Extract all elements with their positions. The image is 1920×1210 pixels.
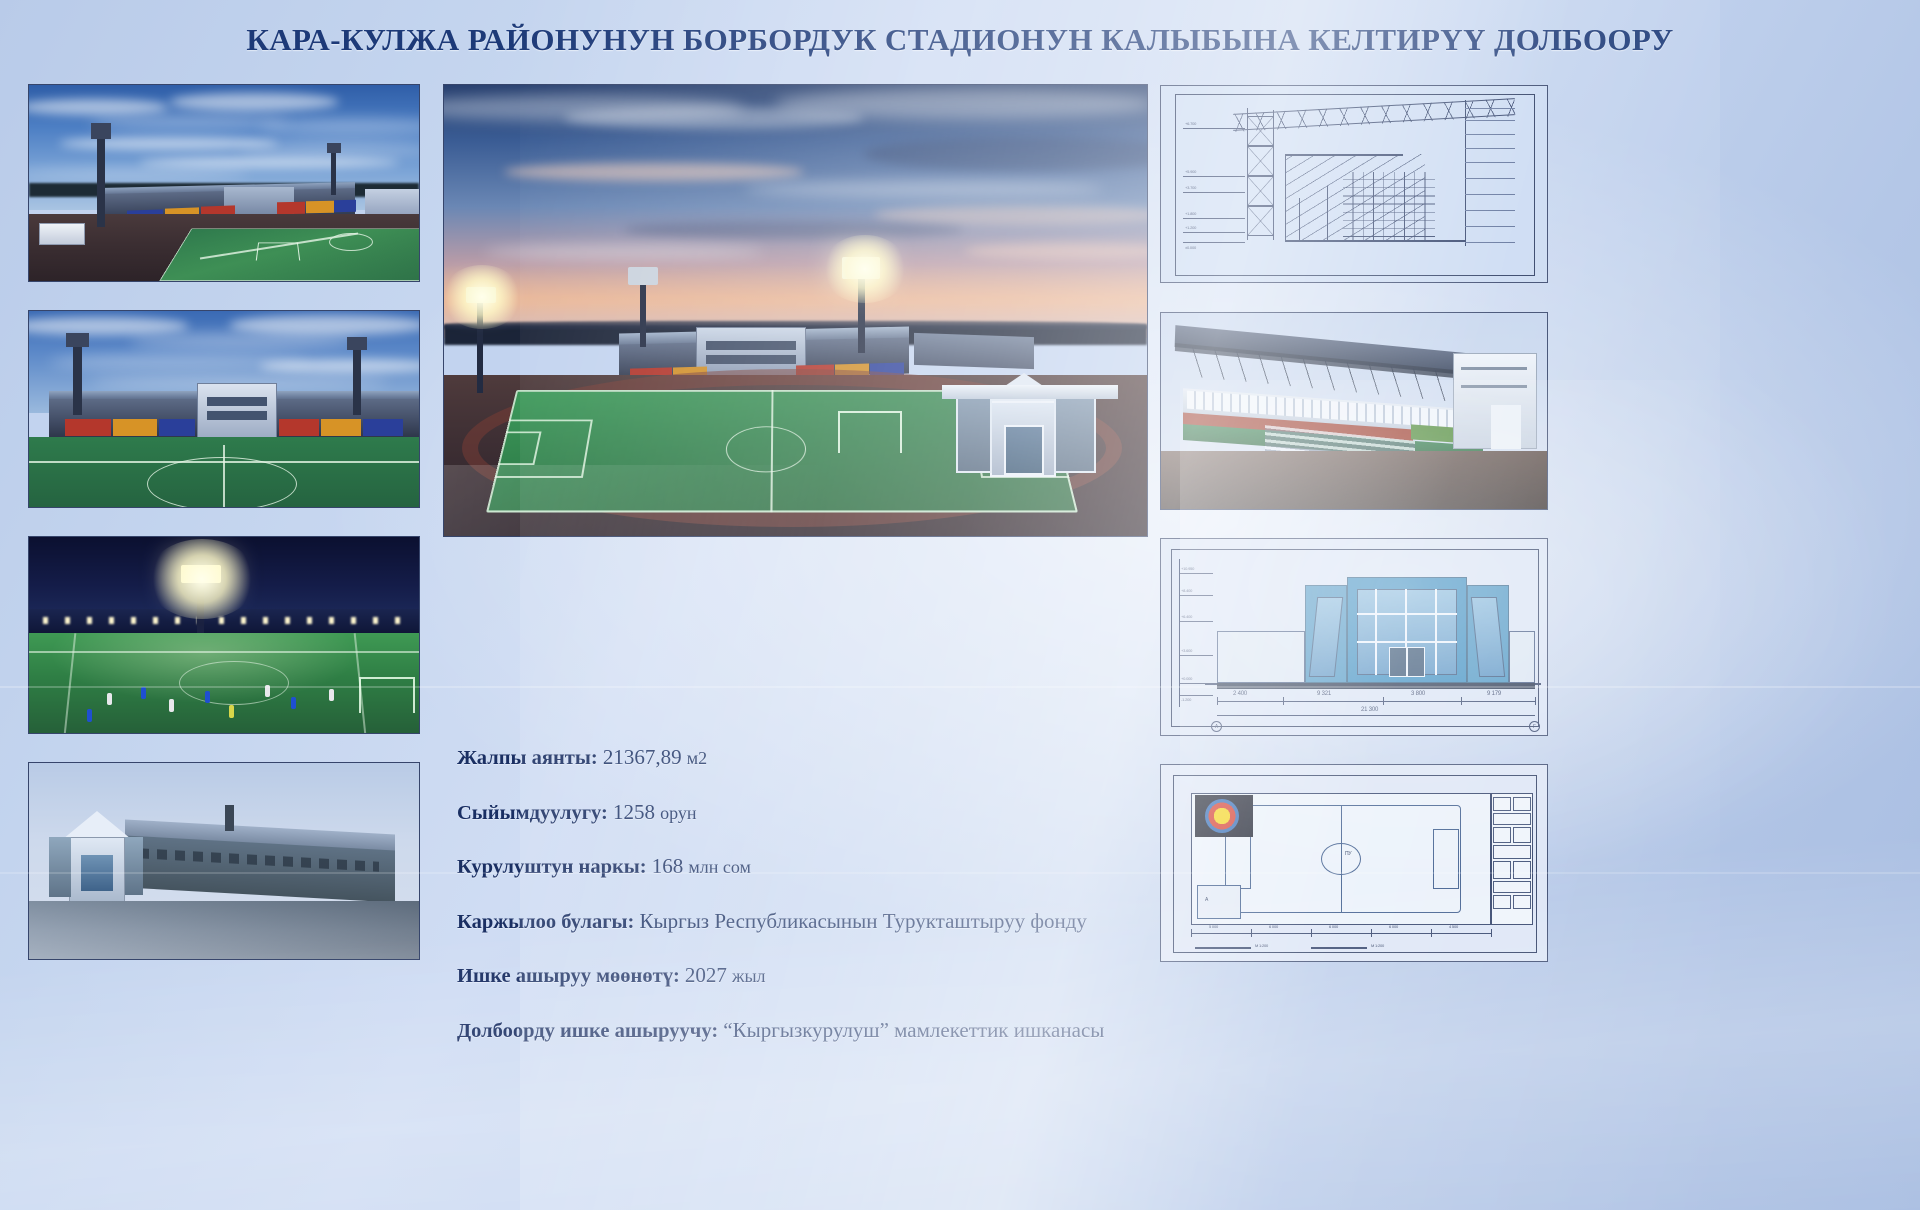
info-unit-total-area: м2 [687, 748, 707, 768]
panel-service-building-exterior-view[interactable] [28, 762, 420, 960]
panel-site-master-plan-drawing[interactable]: ПУ А 5 000 6 000 6 000 6 000 4 500 М [1160, 764, 1548, 962]
panel-grandstand-3d-structure-view[interactable] [1160, 312, 1548, 510]
info-value-total-area: 21367,89 [603, 745, 682, 769]
info-label-construction-cost: Курулуштун наркы: [457, 856, 647, 878]
panel-entrance-pavilion-elevation-drawing[interactable]: +10.950 +8.400 +6.400 +3.600 +0.000 -1.2… [1160, 538, 1548, 736]
info-unit-construction-cost: млн сом [688, 857, 751, 877]
info-value-construction-cost: 168 [652, 854, 684, 878]
stadium-dusk-aerial-image [444, 85, 1147, 536]
grandstand-3d-structure-image [1161, 313, 1547, 509]
panel-stadium-dusk-aerial-render[interactable] [443, 84, 1148, 537]
info-label-implementing-organization: Долбоорду ишке ашыруучу: [457, 1020, 718, 1042]
info-unit-implementation-deadline: жыл [732, 966, 766, 986]
info-label-total-area: Жалпы аянты: [457, 747, 598, 769]
info-label-capacity: Сыйымдуулугу: [457, 802, 608, 824]
project-info-block: Жалпы аянты: 21367,89 м2 Сыйымдуулугу: 1… [457, 745, 1157, 1072]
panel-stadium-daylight-corner-view[interactable] [28, 84, 420, 282]
panel-stadium-night-match-view[interactable] [28, 536, 420, 734]
info-row-construction-cost: Курулуштун наркы: 168 млн сом [457, 854, 1157, 880]
info-value-implementation-deadline: 2027 [685, 963, 727, 987]
stadium-daylight-main-stand-image [29, 311, 419, 507]
panel-stadium-daylight-main-stand-view[interactable] [28, 310, 420, 508]
info-row-funding-source: Каржылоо булагы: Кыргыз Республикасынын … [457, 909, 1157, 935]
info-label-funding-source: Каржылоо булагы: [457, 911, 634, 933]
grandstand-section-image: +6.700 +5.900 +3.700 +1.800 +1.200 ±0.00… [1161, 86, 1547, 282]
info-label-implementation-deadline: Ишке ашыруу мөөнөтү: [457, 965, 680, 987]
stadium-daylight-corner-image [29, 85, 419, 281]
info-row-implementing-organization: Долбоорду ишке ашыруучу: “Кыргызкурулуш”… [457, 1018, 1157, 1044]
info-value-funding-source: Кыргыз Республикасынын Турукташтыруу фон… [639, 909, 1086, 933]
panel-grandstand-section-drawing[interactable]: +6.700 +5.900 +3.700 +1.800 +1.200 ±0.00… [1160, 85, 1548, 283]
site-master-plan-image: ПУ А 5 000 6 000 6 000 6 000 4 500 М [1161, 765, 1547, 961]
info-row-total-area: Жалпы аянты: 21367,89 м2 [457, 745, 1157, 771]
info-value-capacity: 1258 [613, 800, 655, 824]
stadium-night-match-image [29, 537, 419, 733]
info-unit-capacity: орун [660, 803, 696, 823]
info-row-implementation-deadline: Ишке ашыруу мөөнөтү: 2027 жыл [457, 963, 1157, 989]
info-value-implementing-organization: “Кыргызкурулуш” мамлекеттик ишканасы [723, 1018, 1104, 1042]
info-row-capacity: Сыйымдуулугу: 1258 орун [457, 800, 1157, 826]
page-title: КАРА-КУЛЖА РАЙОНУНУН БОРБОРДУК СТАДИОНУН… [0, 22, 1920, 58]
service-building-exterior-image [29, 763, 419, 959]
entrance-pavilion-elevation-image: +10.950 +8.400 +6.400 +3.600 +0.000 -1.2… [1161, 539, 1547, 735]
